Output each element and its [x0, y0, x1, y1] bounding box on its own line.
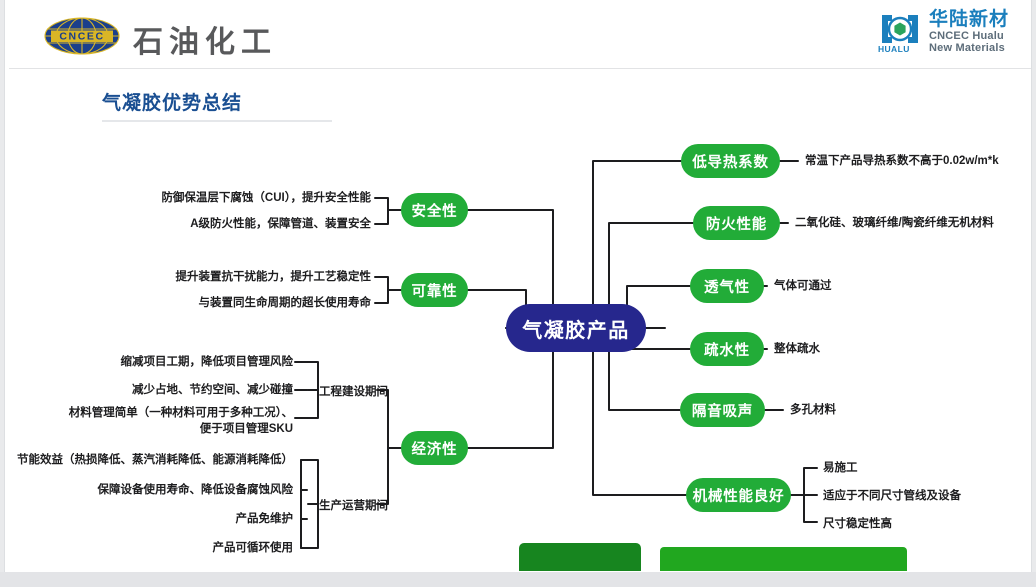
leaf-breathability-0: 气体可通过 — [774, 278, 832, 294]
leaf-reliability-1: 与装置同生命周期的超长使用寿命 — [5, 295, 371, 311]
leaf-construction-1: 减少占地、节约空间、减少碰撞 — [5, 382, 293, 398]
bottom-bar-light — [660, 547, 907, 571]
branch-node-hydrophobicity[interactable]: 疏水性 — [690, 332, 764, 366]
branch-node-safety[interactable]: 安全性 — [401, 193, 468, 227]
slide-page: CNCEC 石油化工 HUALU 华陆新材 CNCEC Hualu New Ma… — [0, 0, 1036, 587]
leaf-operation-0: 节能效益（热损降低、蒸汽消耗降低、能源消耗降低） — [5, 452, 293, 468]
leaf-operation-3: 产品可循环使用 — [5, 540, 293, 556]
branch-node-low-thermal-conductivity[interactable]: 低导热系数 — [681, 144, 780, 178]
branch-node-reliability[interactable]: 可靠性 — [401, 273, 468, 307]
leaf-construction-3: 便于项目管理SKU — [5, 421, 293, 437]
mindmap-center-node[interactable]: 气凝胶产品 — [506, 304, 646, 352]
leaf-operation-2: 产品免维护 — [5, 511, 293, 527]
branch-node-mechanical-performance[interactable]: 机械性能良好 — [686, 478, 791, 512]
leaf-reliability-0: 提升装置抗干扰能力，提升工艺稳定性 — [5, 269, 371, 285]
bottom-bar-dark — [519, 543, 641, 571]
group-label-construction-period: 工程建设期间 — [319, 383, 388, 399]
leaf-fire-resistance-0: 二氧化硅、玻璃纤维/陶瓷纤维无机材料 — [795, 215, 994, 231]
branch-node-breathability[interactable]: 透气性 — [690, 269, 764, 303]
branch-node-sound-insulation[interactable]: 隔音吸声 — [680, 393, 765, 427]
branch-node-fire-resistance[interactable]: 防火性能 — [693, 206, 780, 240]
slide-surface: CNCEC 石油化工 HUALU 华陆新材 CNCEC Hualu New Ma… — [4, 0, 1032, 572]
leaf-safety-1: A级防火性能，保障管道、装置安全 — [5, 216, 371, 232]
leaf-mechanical-performance-2: 尺寸稳定性高 — [823, 516, 892, 532]
leaf-hydrophobicity-0: 整体疏水 — [774, 341, 820, 357]
branch-node-economy[interactable]: 经济性 — [401, 431, 468, 465]
leaf-sound-insulation-0: 多孔材料 — [790, 402, 836, 418]
mindmap: 气凝胶产品 低导热系数 常温下产品导热系数不高于0.02w/m*k 防火性能 二… — [5, 0, 1032, 572]
leaf-construction-2: 材料管理简单（一种材料可用于多种工况）、 — [5, 405, 293, 421]
leaf-mechanical-performance-1: 适应于不同尺寸管线及设备 — [823, 488, 961, 504]
leaf-construction-0: 缩减项目工期，降低项目管理风险 — [5, 354, 293, 370]
leaf-safety-0: 防御保温层下腐蚀（CUI），提升安全性能 — [5, 190, 371, 206]
leaf-mechanical-performance-0: 易施工 — [823, 460, 858, 476]
leaf-low-thermal-conductivity-0: 常温下产品导热系数不高于0.02w/m*k — [805, 153, 999, 169]
leaf-operation-1: 保障设备使用寿命、降低设备腐蚀风险 — [5, 482, 293, 498]
page-bottom-edge — [0, 572, 1036, 587]
group-label-operation-period: 生产运营期间 — [319, 497, 388, 513]
